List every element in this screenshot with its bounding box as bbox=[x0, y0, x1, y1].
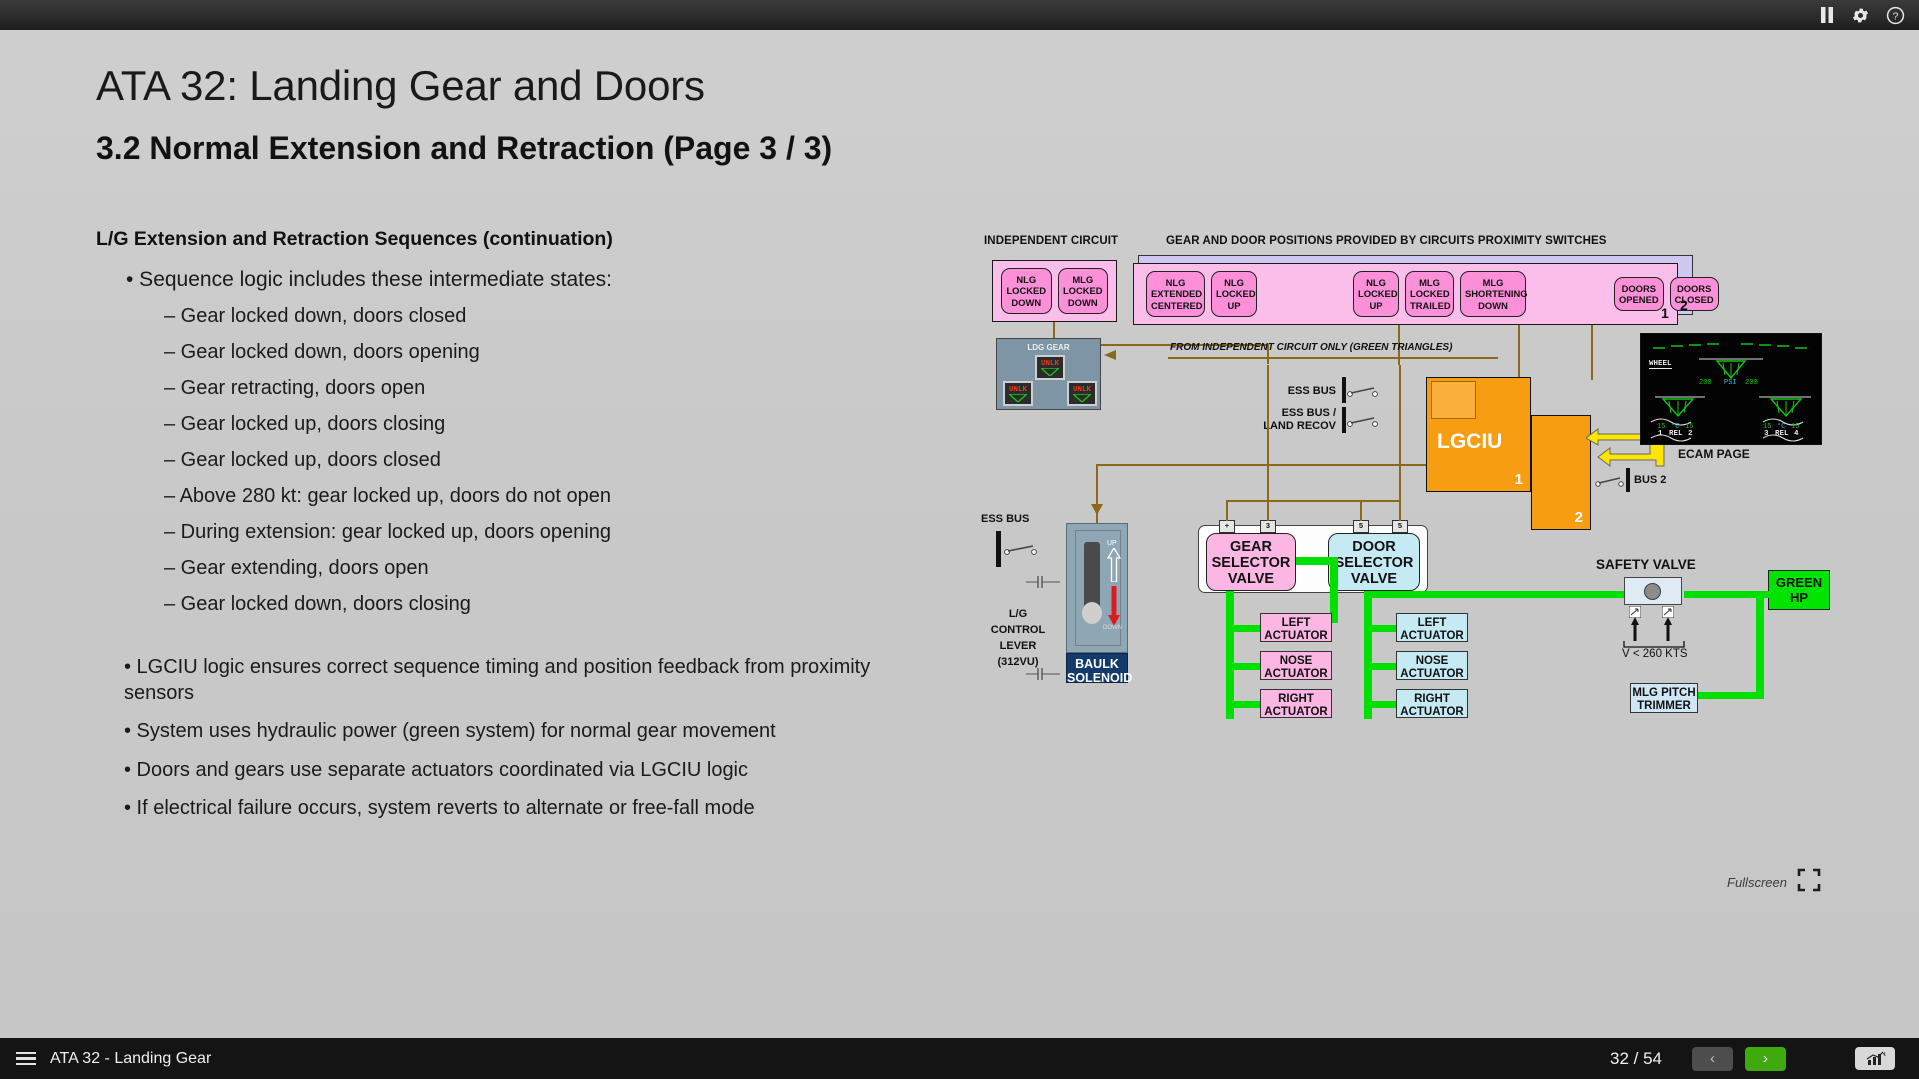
help-circle-icon[interactable]: ? bbox=[1886, 6, 1905, 25]
bullet-item: – Above 280 kt: gear locked up, doors do… bbox=[164, 485, 906, 508]
ess-bus-land-recov-label: ESS BUS / LAND RECOV bbox=[1248, 407, 1336, 433]
unlk-label: UNLK bbox=[1073, 386, 1091, 394]
lever-down-label: DOWN bbox=[1103, 625, 1122, 631]
lever-up-label: UP bbox=[1107, 540, 1117, 547]
unlk-indicator[interactable]: UNLK bbox=[1067, 381, 1097, 406]
lgciu-number-2: 2 bbox=[1575, 509, 1583, 526]
wire bbox=[1226, 501, 1228, 521]
wire bbox=[1226, 500, 1401, 502]
bus-bar bbox=[996, 531, 1001, 567]
proximity-switches-caption: GEAR AND DOOR POSITIONS PROVIDED BY CIRC… bbox=[1166, 235, 1607, 247]
slide-canvas: ATA 32: Landing Gear and Doors 3.2 Norma… bbox=[0, 30, 1919, 1038]
ecam-nose-psi-unit: PSI bbox=[1724, 379, 1737, 387]
gear-right-actuator: RIGHT ACTUATOR bbox=[1260, 689, 1332, 718]
ground-symbol bbox=[1026, 575, 1060, 594]
note-underline bbox=[1168, 357, 1498, 359]
wire bbox=[1399, 365, 1401, 501]
hydraulic-pipe bbox=[1756, 591, 1764, 699]
gear-left-actuator: LEFT ACTUATOR bbox=[1260, 613, 1332, 642]
gear-nose-actuator: NOSE ACTUATOR bbox=[1260, 651, 1332, 680]
course-title: ATA 32 - Landing Gear bbox=[50, 1050, 211, 1068]
hydraulic-pipe bbox=[1694, 692, 1762, 699]
status-pill: DOORS OPENED bbox=[1614, 277, 1664, 311]
slide-text-column: L/G Extension and Retraction Sequences (… bbox=[96, 228, 906, 835]
switch-symbol bbox=[1003, 543, 1039, 561]
status-pill: NLG LOCKED UP bbox=[1211, 271, 1257, 316]
wire bbox=[1518, 325, 1520, 380]
ground-symbol bbox=[1026, 667, 1060, 686]
ecam-brake-2: 2 bbox=[1688, 430, 1693, 438]
bullet-item: – Gear locked down, doors closing bbox=[164, 593, 906, 616]
bus-bar bbox=[1626, 468, 1630, 492]
door-selector-valve: DOOR SELECTOR VALVE bbox=[1328, 533, 1420, 591]
wire bbox=[1267, 365, 1269, 501]
valve-port: 5 bbox=[1353, 520, 1369, 533]
switch-symbol bbox=[1346, 415, 1380, 433]
ecam-nose-psi-right: 200 bbox=[1745, 379, 1758, 387]
hydraulic-pipe bbox=[1226, 701, 1260, 708]
gear-selector-valve: GEAR SELECTOR VALVE bbox=[1206, 533, 1296, 591]
lgciu-label: LGCIU bbox=[1437, 430, 1502, 454]
independent-circuit-note: FROM INDEPENDENT CIRCUIT ONLY (GREEN TRI… bbox=[1170, 342, 1452, 353]
status-pill: MLG LOCKED DOWN bbox=[1058, 268, 1109, 313]
safety-valve-condition: V < 260 KTS bbox=[1622, 648, 1688, 660]
status-pill: NLG LOCKED DOWN bbox=[1001, 268, 1052, 313]
ecam-display: WHEEL 200 PSI 200 15 bbox=[1640, 333, 1822, 445]
svg-text:?: ? bbox=[1893, 11, 1899, 22]
switch-symbol bbox=[1595, 475, 1625, 493]
status-pill: NLG LOCKED UP bbox=[1353, 271, 1399, 316]
hamburger-menu-icon[interactable] bbox=[16, 1052, 36, 1065]
wire bbox=[1360, 501, 1362, 521]
prev-page-button[interactable]: ‹ bbox=[1692, 1047, 1733, 1071]
valve-port: + bbox=[1219, 520, 1235, 533]
bullet-item: – Gear locked up, doors closing bbox=[164, 413, 906, 436]
expand-corners-icon[interactable] bbox=[1797, 868, 1821, 897]
bullet-item: – Gear locked down, doors opening bbox=[164, 341, 906, 364]
unlk-label: UNLK bbox=[1009, 386, 1027, 394]
valve-port: 5 bbox=[1392, 520, 1408, 533]
bus-2-label: BUS 2 bbox=[1634, 474, 1666, 487]
unlk-indicator[interactable]: UNLK bbox=[1035, 355, 1065, 380]
wire bbox=[1096, 465, 1098, 509]
ecam-page-caption: ECAM PAGE bbox=[1678, 447, 1750, 461]
green-hp-supply: GREEN HP bbox=[1768, 570, 1830, 610]
hydraulic-pipe bbox=[1364, 591, 1624, 598]
lgciu-unit-1: LGCIU 1 bbox=[1426, 377, 1531, 492]
status-pill: NLG EXTENDED CENTERED bbox=[1146, 271, 1205, 316]
lgciu-number-1: 1 bbox=[1515, 471, 1523, 488]
mlg-pitch-trimmer: MLG PITCH TRIMMER bbox=[1630, 683, 1698, 713]
pause-icon[interactable] bbox=[1819, 6, 1835, 24]
hydraulic-pipe bbox=[1364, 591, 1372, 719]
door-right-actuator: RIGHT ACTUATOR bbox=[1396, 689, 1468, 718]
wire bbox=[1267, 501, 1269, 521]
hydraulic-pipe bbox=[1226, 663, 1260, 670]
bullet-item: – Gear locked down, doors closed bbox=[164, 305, 906, 328]
page-counter: 32 / 54 bbox=[1610, 1049, 1662, 1069]
ecam-brake-4: 4 bbox=[1794, 430, 1799, 438]
lgciu-subblock bbox=[1431, 381, 1476, 419]
wire bbox=[1591, 325, 1593, 380]
hydraulic-pipe bbox=[1364, 625, 1396, 632]
valve-port: 3 bbox=[1260, 520, 1276, 533]
hydraulic-pipe bbox=[1364, 701, 1396, 708]
unlk-indicator[interactable]: UNLK bbox=[1003, 381, 1033, 406]
ess-bus-lever-label: ESS BUS bbox=[981, 513, 1029, 526]
ldg-gear-title: LDG GEAR bbox=[997, 343, 1100, 352]
hydraulic-pipe bbox=[1364, 663, 1396, 670]
proximity-switches-panel: NLG EXTENDED CENTERED NLG LOCKED UP NLG … bbox=[1133, 263, 1678, 325]
bullet-item: – Gear retracting, doors open bbox=[164, 377, 906, 400]
bullet-item: – Gear locked up, doors closed bbox=[164, 449, 906, 472]
bullet-item: – Gear extending, doors open bbox=[164, 557, 906, 580]
safety-valve-title: SAFETY VALVE bbox=[1596, 557, 1696, 572]
circuit-number-2: 2 bbox=[1680, 297, 1688, 313]
status-pill: DOORS CLOSED bbox=[1670, 277, 1719, 311]
lg-control-lever[interactable]: UP DOWN bbox=[1066, 523, 1128, 653]
ecam-brake-3: 3 bbox=[1764, 430, 1769, 438]
independent-circuit-panel: NLG LOCKED DOWN MLG LOCKED DOWN bbox=[992, 260, 1117, 322]
status-pill: MLG SHORTENING DOWN bbox=[1460, 271, 1526, 316]
lgciu-unit-2: 2 bbox=[1531, 415, 1591, 530]
page-subtitle: 3.2 Normal Extension and Retraction (Pag… bbox=[96, 130, 832, 167]
safety-valve-actuator-icon bbox=[1644, 583, 1661, 600]
lg-control-lever-label: L/G CONTROL LEVER (312VU) bbox=[978, 607, 1058, 671]
wire bbox=[1399, 501, 1401, 521]
top-toolbar: ? bbox=[0, 0, 1919, 30]
switch-symbol bbox=[1346, 385, 1380, 403]
hydraulic-pipe bbox=[1226, 625, 1260, 632]
safety-valve-arrows bbox=[1618, 617, 1698, 649]
ecam-left-rel: REL bbox=[1669, 430, 1683, 438]
independent-circuit-caption: INDEPENDENT CIRCUIT bbox=[984, 235, 1118, 247]
bottom-toolbar: ATA 32 - Landing Gear 32 / 54 ‹ › bbox=[0, 1038, 1919, 1079]
chart-stats-icon[interactable] bbox=[1855, 1047, 1895, 1070]
paragraph: • System uses hydraulic power (green sys… bbox=[124, 719, 906, 745]
fullscreen-label: Fullscreen bbox=[1727, 875, 1787, 890]
gear-icon[interactable] bbox=[1851, 6, 1870, 25]
paragraph: • If electrical failure occurs, system r… bbox=[124, 796, 906, 822]
ecam-brake-1: 1 bbox=[1658, 430, 1663, 438]
baulk-solenoid: BAULK SOLENOID bbox=[1066, 653, 1128, 683]
unlk-label: UNLK bbox=[1041, 360, 1059, 368]
paragraph: • Doors and gears use separate actuators… bbox=[124, 758, 906, 784]
circuit-number-1: 1 bbox=[1661, 305, 1669, 321]
door-nose-actuator: NOSE ACTUATOR bbox=[1396, 651, 1468, 680]
fullscreen-button[interactable]: Fullscreen bbox=[1727, 868, 1821, 897]
status-pill: MLG LOCKED TRAILED bbox=[1405, 271, 1454, 316]
system-schematic-diagram: INDEPENDENT CIRCUIT GEAR AND DOOR POSITI… bbox=[978, 235, 1858, 925]
ess-bus-label: ESS BUS bbox=[1264, 385, 1336, 398]
bullet-item: – During extension: gear locked up, door… bbox=[164, 521, 906, 544]
section-heading: L/G Extension and Retraction Sequences (… bbox=[96, 228, 906, 251]
paragraph: • LGCIU logic ensures correct sequence t… bbox=[124, 655, 906, 706]
ldg-gear-panel: LDG GEAR UNLK UNLK UNLK bbox=[996, 338, 1101, 410]
page-title: ATA 32: Landing Gear and Doors bbox=[96, 62, 705, 110]
next-page-button[interactable]: › bbox=[1745, 1047, 1786, 1071]
bullet-item: • Sequence logic includes these intermed… bbox=[126, 268, 906, 292]
wire bbox=[1096, 464, 1426, 466]
ecam-nose-psi-left: 200 bbox=[1699, 379, 1712, 387]
ecam-right-rel: REL bbox=[1775, 430, 1789, 438]
door-left-actuator: LEFT ACTUATOR bbox=[1396, 613, 1468, 642]
arrow-left-icon bbox=[1104, 347, 1118, 365]
